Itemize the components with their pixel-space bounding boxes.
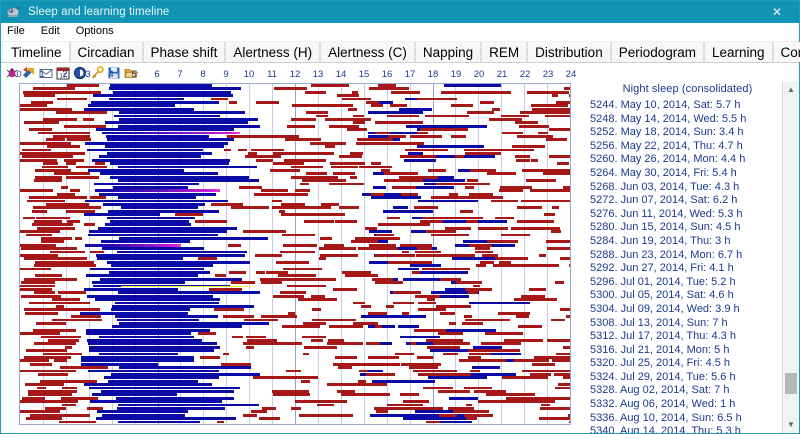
sleep-block (81, 363, 157, 366)
actogram-row[interactable] (20, 383, 570, 386)
wake-bar (350, 152, 363, 155)
actogram-row[interactable] (20, 268, 570, 271)
wake-bar (256, 319, 278, 322)
tab-periodogram[interactable]: Periodogram (611, 42, 704, 62)
wake-bar (291, 118, 316, 121)
wake-bar (447, 217, 483, 220)
list-item[interactable]: 5244. May 10, 2014, Sat: 5.7 h (590, 99, 799, 113)
wake-bar (35, 169, 71, 172)
scrollbar-thumb[interactable] (785, 373, 797, 394)
actogram-row[interactable] (20, 210, 570, 213)
actogram-row[interactable] (20, 302, 570, 305)
wake-bar (200, 356, 219, 359)
list-item[interactable]: 5264. May 30, 2014, Fri: 5.4 h (590, 167, 799, 181)
actogram-row[interactable] (20, 183, 570, 186)
nap-block (399, 108, 432, 111)
wake-bar (480, 261, 494, 264)
actogram-row[interactable] (20, 227, 570, 230)
menu-item-options[interactable]: Options (76, 26, 114, 37)
sleep-block (110, 84, 212, 87)
actogram-row[interactable] (20, 111, 570, 114)
wake-bar (386, 305, 394, 308)
hour-tick-11: 11 (267, 69, 277, 81)
actogram-row[interactable] (20, 356, 570, 359)
wake-bar (259, 417, 279, 420)
wake-bar (551, 319, 565, 322)
actogram-row[interactable] (20, 393, 570, 396)
actogram-row[interactable] (20, 400, 570, 403)
sleep-block (118, 404, 259, 407)
hour-tick-1: 1 (39, 69, 44, 81)
actogram-row[interactable] (20, 421, 570, 424)
actogram-row[interactable] (20, 414, 570, 417)
list-item[interactable]: 5248. May 14, 2014, Wed: 5.5 h (590, 113, 799, 127)
list-item[interactable]: 5252. May 18, 2014, Sun: 3.4 h (590, 126, 799, 140)
tab-phase-shift[interactable]: Phase shift (143, 42, 226, 62)
wake-bar (34, 179, 62, 182)
wake-bar (353, 121, 365, 124)
wake-bar (30, 268, 51, 271)
wake-bar (520, 111, 550, 114)
actogram-row[interactable] (20, 94, 570, 97)
actogram-row[interactable] (20, 152, 570, 155)
wake-bar (328, 179, 335, 182)
wake-bar (38, 373, 68, 376)
actogram-row[interactable] (20, 213, 570, 216)
wake-bar (34, 264, 70, 267)
wake-bar (543, 172, 570, 175)
wake-bar (462, 115, 469, 118)
wake-bar (517, 220, 554, 223)
wake-bar (274, 87, 307, 90)
wake-bar (361, 305, 371, 308)
wake-bar (418, 308, 446, 311)
window-title: Sleep and learning timeline (28, 6, 169, 18)
nap-block (411, 230, 426, 233)
wake-bar (325, 145, 335, 148)
actogram-row[interactable] (20, 329, 570, 332)
wake-bar (549, 111, 570, 114)
wake-bar (466, 417, 477, 420)
wake-bar (285, 138, 321, 141)
actogram-row[interactable] (20, 336, 570, 339)
actogram-row[interactable] (20, 315, 570, 318)
actogram-row[interactable] (20, 196, 570, 199)
actogram-row[interactable] (20, 254, 570, 257)
wake-bar (487, 172, 516, 175)
actogram-row[interactable] (20, 261, 570, 264)
wake-bar (334, 383, 345, 386)
wake-bar (440, 312, 455, 315)
close-button[interactable]: ✕ (755, 1, 799, 23)
actogram-row[interactable] (20, 285, 570, 288)
list-item[interactable]: 5312. Jul 17, 2014, Thu: 4.3 h (590, 330, 799, 344)
wake-bar (278, 274, 316, 277)
wake-bar (47, 329, 61, 332)
actogram-row[interactable] (20, 118, 570, 121)
actogram-row[interactable] (20, 298, 570, 301)
actogram-row[interactable] (20, 169, 570, 172)
wake-bar (546, 138, 567, 141)
list-item[interactable]: 5280. Jun 15, 2014, Sun: 4.5 h (590, 221, 799, 235)
actogram-row[interactable] (20, 410, 570, 413)
wake-bar (46, 414, 77, 417)
wake-bar (262, 407, 276, 410)
sleep-block (109, 87, 242, 90)
tab-learning[interactable]: Learning (704, 42, 773, 62)
sleep-block (115, 302, 219, 305)
actogram-row[interactable] (20, 251, 570, 254)
actogram-row[interactable] (20, 339, 570, 342)
wake-bar (28, 159, 42, 162)
wake-bar (211, 288, 242, 291)
sleep-block (119, 366, 251, 369)
sleep-block (89, 349, 214, 352)
wake-bar (32, 356, 71, 359)
actogram-row[interactable] (20, 332, 570, 335)
menu-item-file[interactable]: File (7, 26, 25, 37)
nap-block (398, 325, 419, 328)
sleep-block (85, 142, 228, 145)
wake-bar (32, 210, 47, 213)
list-item[interactable]: 5336. Aug 10, 2014, Sun: 6.5 h (590, 412, 799, 426)
wake-bar (402, 251, 409, 254)
wake-bar (547, 247, 570, 250)
wake-bar (491, 200, 518, 203)
wake-bar (417, 132, 428, 135)
wake-bar (413, 370, 442, 373)
actogram-row[interactable] (20, 223, 570, 226)
tab-alertness-c[interactable]: Alertness (C) (320, 42, 415, 62)
wake-bar (498, 312, 530, 315)
actogram-row[interactable] (20, 359, 570, 362)
tab-alertness-h[interactable]: Alertness (H) (225, 42, 320, 62)
actogram-row[interactable] (20, 346, 570, 349)
menu-item-edit[interactable]: Edit (41, 26, 60, 37)
vertical-scrollbar[interactable]: ▲ ▼ (782, 81, 799, 433)
wake-bar (514, 359, 549, 362)
wake-bar (361, 363, 399, 366)
wake-bar (384, 179, 418, 182)
actogram-row[interactable] (20, 230, 570, 233)
actogram-row[interactable] (20, 237, 570, 240)
nap-block (469, 302, 529, 305)
actogram-row[interactable] (20, 98, 570, 101)
actogram-row[interactable] (20, 125, 570, 128)
actogram-row[interactable] (20, 145, 570, 148)
tab-timeline[interactable]: Timeline (3, 42, 70, 62)
wake-bar (560, 308, 570, 311)
actogram-plot[interactable] (19, 83, 571, 425)
actogram-row[interactable] (20, 203, 570, 206)
wake-bar (324, 244, 343, 247)
wake-bar (76, 308, 100, 311)
actogram-row[interactable] (20, 291, 570, 294)
list-item[interactable]: 5272. Jun 07, 2014, Sat: 6.2 h (590, 194, 799, 208)
sleep-block (108, 380, 198, 383)
wake-bar (59, 98, 88, 101)
actogram-row[interactable] (20, 87, 570, 90)
hour-tick-10: 10 (244, 69, 255, 81)
wake-bar (349, 271, 368, 274)
actogram-row[interactable] (20, 244, 570, 247)
actogram-row[interactable] (20, 363, 570, 366)
tab-circadian[interactable]: Circadian (70, 42, 143, 62)
sleep-block (115, 315, 218, 318)
hour-tick-2: 2 (62, 69, 67, 81)
tab-napping[interactable]: Napping (415, 42, 481, 62)
list-item[interactable]: 5288. Jun 23, 2014, Mon: 6.7 h (590, 249, 799, 263)
actogram-row[interactable] (20, 247, 570, 250)
wake-bar (75, 237, 83, 240)
scroll-down-arrow-icon[interactable]: ▼ (783, 416, 799, 433)
actogram-row[interactable] (20, 128, 570, 131)
wake-bar (431, 234, 469, 237)
wake-bar (560, 257, 570, 260)
wake-bar (273, 162, 303, 165)
nap-block (378, 380, 435, 383)
tab-consolidation[interactable]: Consolidation (773, 42, 800, 62)
night-sleep-list[interactable]: 5244. May 10, 2014, Sat: 5.7 h5248. May … (576, 99, 799, 433)
wake-bar (522, 370, 547, 373)
actogram-row[interactable] (20, 373, 570, 376)
wake-bar (256, 159, 273, 162)
actogram-row[interactable] (20, 325, 570, 328)
wake-bar (557, 162, 569, 165)
actogram-row[interactable] (20, 370, 570, 373)
actogram-row[interactable] (20, 305, 570, 308)
actogram-row[interactable] (20, 308, 570, 311)
list-item[interactable]: 5304. Jul 09, 2014, Wed: 3.9 h (590, 303, 799, 317)
wake-bar (273, 393, 310, 396)
wake-bar (24, 121, 59, 124)
tab-distribution[interactable]: Distribution (527, 42, 611, 62)
list-item[interactable]: 5284. Jun 19, 2014, Thu: 3 h (590, 235, 799, 249)
sleep-block (84, 383, 212, 386)
wake-bar (482, 359, 507, 362)
actogram-row[interactable] (20, 240, 570, 243)
actogram-row[interactable] (20, 159, 570, 162)
actogram-row[interactable] (20, 257, 570, 260)
wake-bar (320, 237, 332, 240)
list-item[interactable]: 5260. May 26, 2014, Mon: 4.4 h (590, 153, 799, 167)
actogram-row[interactable] (20, 376, 570, 379)
wake-bar (371, 193, 383, 196)
actogram-row[interactable] (20, 322, 570, 325)
sleep-block (118, 179, 259, 182)
wake-bar (399, 176, 438, 179)
actogram-row[interactable] (20, 234, 570, 237)
list-item[interactable]: 5300. Jul 05, 2014, Sat: 4.6 h (590, 289, 799, 303)
wake-bar (23, 217, 35, 220)
wake-bar (53, 135, 91, 138)
actogram-row[interactable] (20, 138, 570, 141)
nap-block (406, 125, 458, 128)
wake-bar (57, 193, 75, 196)
list-item[interactable]: 5324. Jul 29, 2014, Tue: 5.6 h (590, 371, 799, 385)
actogram-row[interactable] (20, 132, 570, 135)
actogram-row[interactable] (20, 281, 570, 284)
nap-block (404, 159, 437, 162)
tab-rem[interactable]: REM (481, 42, 527, 62)
nap-block (449, 397, 479, 400)
list-item[interactable]: 5316. Jul 21, 2014, Mon: 5 h (590, 344, 799, 358)
actogram-row[interactable] (20, 404, 570, 407)
list-item[interactable]: 5276. Jun 11, 2014, Wed: 5.3 h (590, 208, 799, 222)
list-item[interactable]: 5340. Aug 14, 2014, Thu: 5.3 h (590, 425, 799, 433)
actogram-row[interactable] (20, 121, 570, 124)
actogram-row[interactable] (20, 274, 570, 277)
actogram-row[interactable] (20, 166, 570, 169)
wake-bar (62, 132, 69, 135)
actogram-row[interactable] (20, 319, 570, 322)
wake-bar (425, 115, 459, 118)
actogram-row[interactable] (20, 264, 570, 267)
actogram-row[interactable] (20, 380, 570, 383)
actogram-row[interactable] (20, 220, 570, 223)
wake-bar (38, 390, 78, 393)
wake-bar (552, 94, 559, 97)
wake-bar (57, 152, 84, 155)
actogram-row[interactable] (20, 115, 570, 118)
actogram-row[interactable] (20, 172, 570, 175)
wake-bar (283, 268, 322, 271)
wake-bar (464, 315, 472, 318)
sleep-block (117, 407, 225, 410)
actogram-row[interactable] (20, 206, 570, 209)
sleep-block (101, 390, 234, 393)
wake-bar (49, 155, 73, 158)
sleep-block (103, 203, 205, 206)
wake-bar (483, 342, 522, 345)
wake-bar (37, 387, 46, 390)
actogram-row[interactable] (20, 149, 570, 152)
wake-bar (465, 288, 493, 291)
actogram-row[interactable] (20, 104, 570, 107)
wake-bar (305, 91, 326, 94)
wake-bar (36, 94, 49, 97)
wake-bar (306, 111, 328, 114)
actogram-row[interactable] (20, 200, 570, 203)
sleep-block (86, 329, 210, 332)
actogram-row[interactable] (20, 349, 570, 352)
wake-bar (426, 230, 456, 233)
actogram-row[interactable] (20, 278, 570, 281)
actogram-row[interactable] (20, 142, 570, 145)
wake-bar (465, 152, 502, 155)
wake-bar (493, 264, 509, 267)
wake-bar (478, 227, 507, 230)
actogram-row[interactable] (20, 193, 570, 196)
actogram-row[interactable] (20, 162, 570, 165)
actogram-row[interactable] (20, 135, 570, 138)
timeline-chart-panel[interactable]: 0123456789101112131415161718192021222324 (1, 81, 576, 433)
actogram-row[interactable] (20, 407, 570, 410)
wake-bar (316, 400, 347, 403)
actogram-row[interactable] (20, 186, 570, 189)
wake-bar (54, 359, 67, 362)
wake-bar (320, 254, 358, 257)
list-item[interactable]: 5256. May 22, 2014, Thu: 4.7 h (590, 140, 799, 154)
actogram-row[interactable] (20, 342, 570, 345)
wake-bar (375, 325, 382, 328)
wake-bar (557, 155, 570, 158)
wake-bar (564, 128, 570, 131)
list-item[interactable]: 5328. Aug 02, 2014, Sat: 7 h (590, 384, 799, 398)
actogram-row[interactable] (20, 417, 570, 420)
actogram-row[interactable] (20, 91, 570, 94)
wake-bar (25, 383, 64, 386)
actogram-row[interactable] (20, 108, 570, 111)
wake-bar (61, 186, 68, 189)
actogram-row[interactable] (20, 353, 570, 356)
wake-bar (393, 291, 421, 294)
wake-bar (330, 213, 345, 216)
wake-bar (444, 183, 468, 186)
sleep-block (89, 387, 240, 390)
actogram-row[interactable] (20, 176, 570, 179)
wake-bar (556, 101, 570, 104)
actogram-row[interactable] (20, 84, 570, 87)
wake-bar (560, 200, 570, 203)
scroll-up-arrow-icon[interactable]: ▲ (783, 81, 799, 98)
wake-bar (45, 302, 83, 305)
list-item[interactable]: 5296. Jul 01, 2014, Tue: 5.2 h (590, 276, 799, 290)
wake-bar (391, 91, 420, 94)
selected-night-yellow (121, 286, 251, 287)
sleep-block (111, 373, 261, 376)
sleep-block (80, 312, 188, 315)
wake-bar (563, 186, 570, 189)
wake-bar (84, 111, 100, 114)
nap-block (412, 417, 434, 420)
wake-bar (416, 254, 451, 257)
wake-bar (482, 319, 510, 322)
wake-bar (441, 91, 479, 94)
actogram-row[interactable] (20, 155, 570, 158)
wake-bar (20, 108, 52, 111)
actogram-row[interactable] (20, 387, 570, 390)
wake-bar (558, 383, 570, 386)
list-item[interactable]: 5332. Aug 06, 2014, Wed: 1 h (590, 398, 799, 412)
wake-bar (325, 278, 337, 281)
list-item[interactable]: 5292. Jun 27, 2014, Fri: 4.1 h (590, 262, 799, 276)
actogram-row[interactable] (20, 366, 570, 369)
wake-bar (418, 302, 436, 305)
wake-bar (328, 339, 344, 342)
actogram-row[interactable] (20, 390, 570, 393)
highlighted-night-magenta (95, 189, 219, 192)
actogram-row[interactable] (20, 295, 570, 298)
actogram-row[interactable] (20, 217, 570, 220)
hour-axis: 0123456789101112131415161718192021222324 (1, 69, 576, 81)
actogram-row[interactable] (20, 288, 570, 291)
actogram-row[interactable] (20, 189, 570, 192)
actogram-row[interactable] (20, 179, 570, 182)
wake-bar (395, 353, 414, 356)
actogram-row[interactable] (20, 271, 570, 274)
wake-bar (372, 278, 393, 281)
wake-bar (337, 390, 355, 393)
list-item[interactable]: 5320. Jul 25, 2014, Fri: 4.5 h (590, 357, 799, 371)
list-item[interactable]: 5268. Jun 03, 2014, Tue: 4.3 h (590, 181, 799, 195)
wake-bar (521, 200, 550, 203)
actogram-row[interactable] (20, 397, 570, 400)
actogram-row[interactable] (20, 101, 570, 104)
actogram-row[interactable] (20, 312, 570, 315)
list-item[interactable]: 5308. Jul 13, 2014, Sun: 7 h (590, 317, 799, 331)
wake-bar (569, 264, 570, 267)
